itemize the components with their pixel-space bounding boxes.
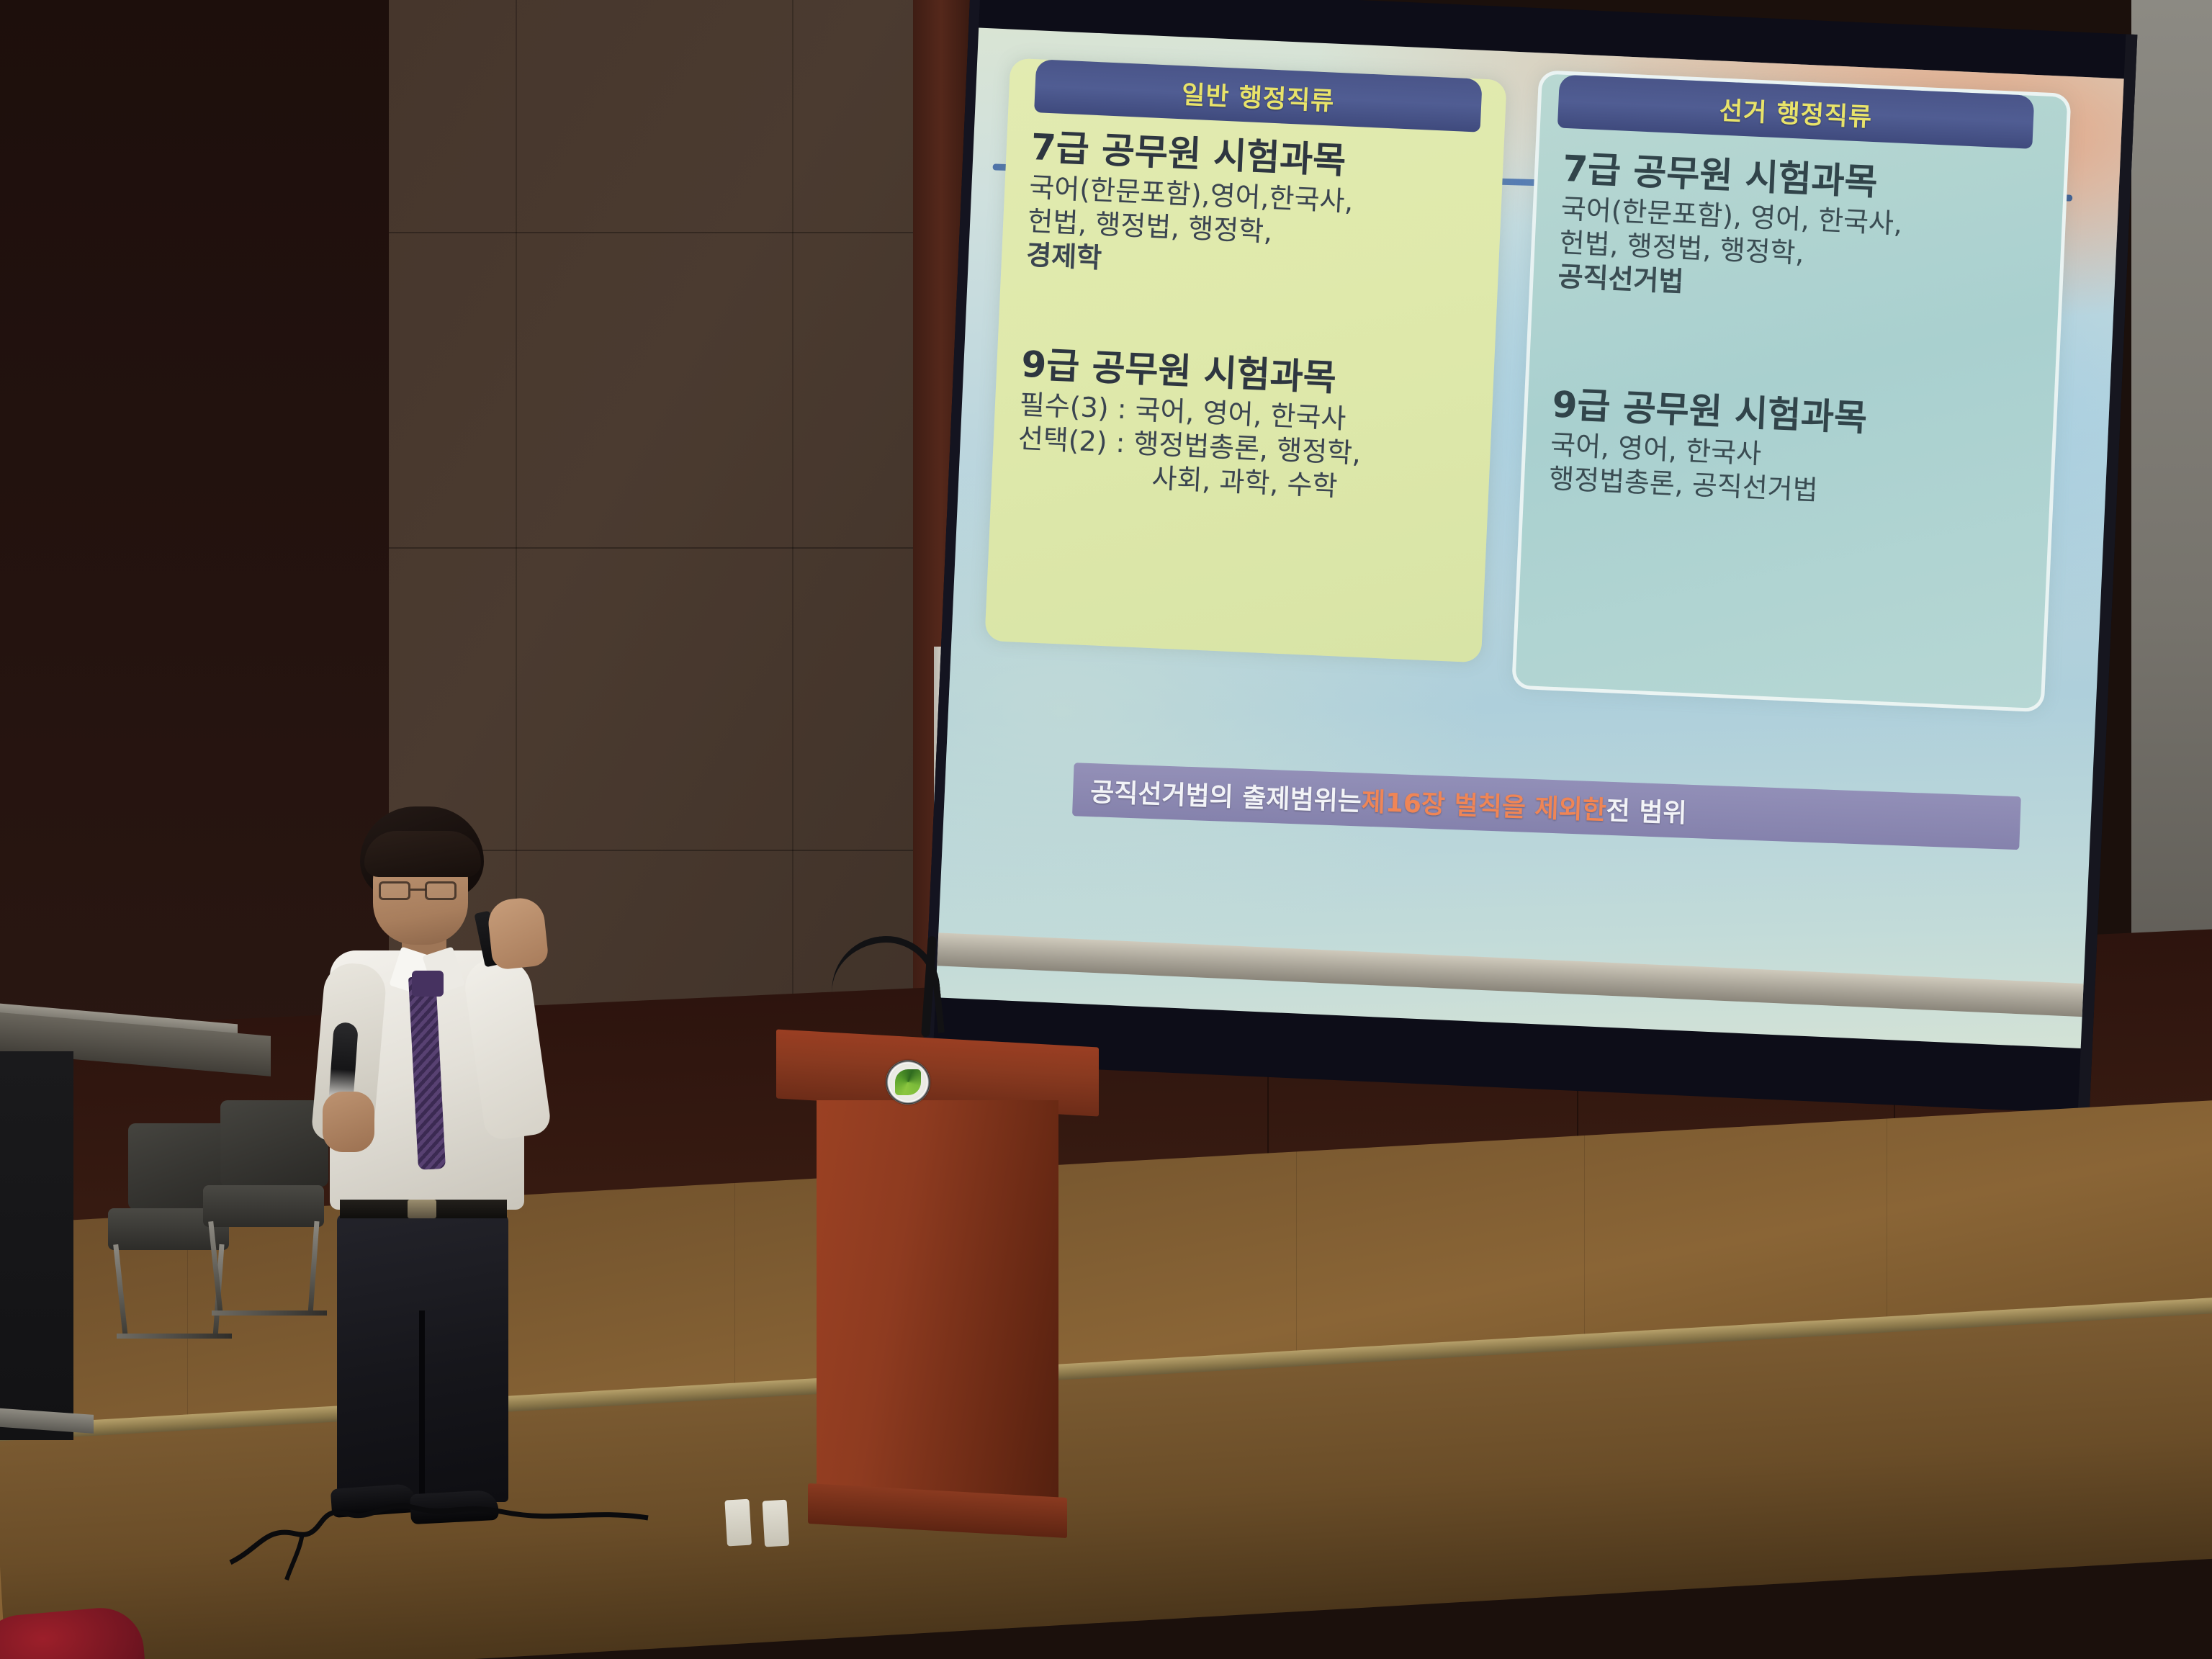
banner-text-part1: 공직선거법의 출제범위는 [1089,771,1362,818]
banner-text-accent: 제16장 벌칙을 제외한 [1361,781,1607,827]
presenter [274,806,576,1498]
panel-tab-label: 선거 행정직류 [1719,90,1873,133]
section-grade7-right: 7급 공무원 시험과목 국어(한문포함), 영어, 한국사, 헌법, 행정법, … [1557,150,2049,315]
projection-screen: 선거직 공무원 시험 일반 행정직류 7급 공무원 시험과목 국어(한문포함),… [922,0,2137,1114]
institution-seal-icon [886,1060,930,1105]
glasses-lens-right [425,881,457,900]
presenter-hair-fringe [364,831,481,877]
slide-panel-general-admin: 일반 행정직류 7급 공무원 시험과목 국어(한문포함),영어,한국사, 헌법,… [984,58,1506,663]
slide-surface: 선거직 공무원 시험 일반 행정직류 7급 공무원 시험과목 국어(한문포함),… [935,28,2123,1048]
panel-tab-general-admin: 일반 행정직류 [1034,59,1483,132]
banner-text-part3: 전 범위 [1606,790,1688,830]
lecture-hall-scene: 선거직 공무원 시험 일반 행정직류 7급 공무원 시험과목 국어(한문포함),… [0,0,2212,1659]
section-grade7-left: 7급 공무원 시험과목 국어(한문포함),영어,한국사, 헌법, 행정법, 행정… [1025,128,1488,292]
section-grade9-left: 9급 공무원 시험과목 필수(3) : 국어, 영어, 한국사 선택(2) : … [1016,346,1478,510]
glasses-lens-left [379,881,410,900]
panel-tab-label: 일반 행정직류 [1181,74,1335,117]
slide-bottom-banner: 공직선거법의 출제범위는 제16장 벌칙을 제외한 전 범위 [1072,763,2021,850]
presenter-hand-right [323,1092,374,1152]
lectern-body [817,1100,1058,1503]
slide-panel-election-admin: 선거 행정직류 7급 공무원 시험과목 국어(한문포함), 영어, 한국사, 헌… [1511,70,2072,712]
tie-knot [412,971,444,997]
screen-bottom-lip [937,932,2083,1017]
presenter-hand-left [486,896,549,971]
belt-buckle [408,1200,436,1218]
microphone-cable [216,1462,864,1591]
wall-right-pale [2131,0,2212,1030]
panel-tab-election-admin: 선거 행정직류 [1557,75,2035,149]
glasses-bridge [410,889,426,891]
section-grade9-right: 9급 공무원 시험과목 국어, 영어, 한국사 행정법총론, 공직선거법 [1548,386,2038,518]
